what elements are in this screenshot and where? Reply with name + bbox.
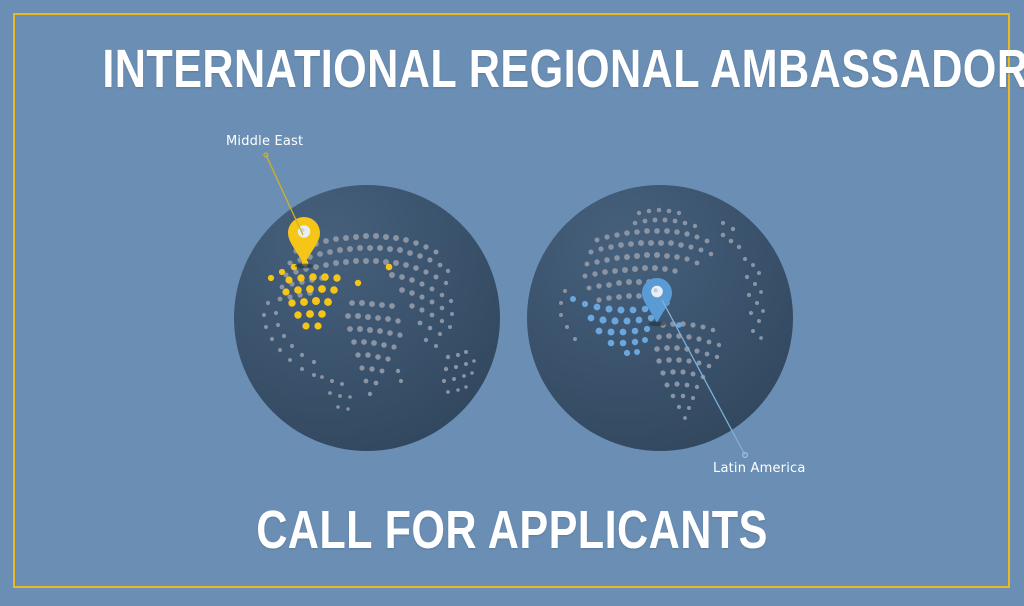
latin-america-leader-dot: [743, 453, 748, 458]
globe-sphere: [527, 185, 793, 451]
page-title-bottom: CALL FOR APPLICANTS: [102, 503, 921, 557]
western-hemisphere-globe: [527, 185, 793, 451]
page-title-top: INTERNATIONAL REGIONAL AMBASSADORS: [102, 42, 921, 96]
marker-label-latin-america: Latin America: [713, 461, 806, 476]
marker-label-middle-east: Middle East: [226, 134, 303, 149]
middle-east-leader-dot: [264, 153, 268, 157]
eastern-hemisphere-globe: [234, 185, 500, 451]
poster-canvas: INTERNATIONAL REGIONAL AMBASSADORS: [0, 0, 1024, 606]
